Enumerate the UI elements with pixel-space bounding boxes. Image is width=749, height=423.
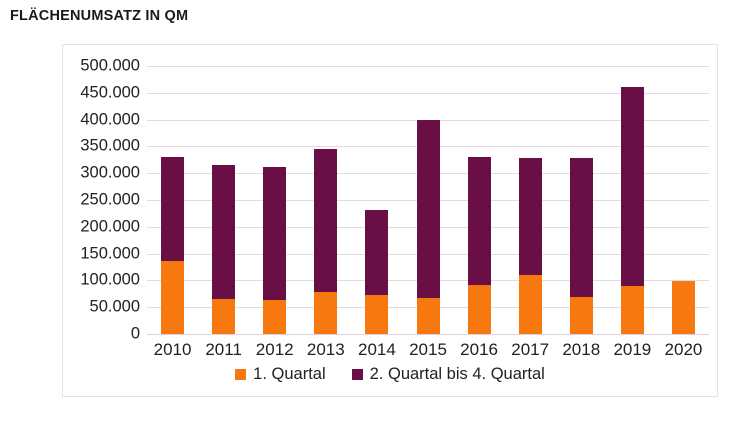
y-axis-tick-label: 500.000	[63, 57, 147, 76]
y-axis-tick-label: 250.000	[63, 191, 147, 210]
bar-segment[interactable]	[468, 285, 491, 334]
y-axis-tick-label: 100.000	[63, 271, 147, 290]
y-axis-tick-label: 0	[63, 325, 147, 344]
bar-segment[interactable]	[417, 298, 440, 334]
y-axis-labels: 500.000450.000400.000350.000300.000250.0…	[63, 66, 147, 334]
y-axis-tick-label: 50.000	[63, 298, 147, 317]
gridline	[147, 66, 709, 67]
x-axis-tick-label: 2020	[665, 340, 703, 360]
bar-segment[interactable]	[365, 210, 388, 295]
bar-segment[interactable]	[212, 165, 235, 300]
x-axis-tick-label: 2017	[511, 340, 549, 360]
bar-segment[interactable]	[417, 120, 440, 298]
x-axis-tick-label: 2011	[205, 340, 242, 360]
y-axis-tick-label: 300.000	[63, 164, 147, 183]
x-axis-tick-label: 2016	[460, 340, 498, 360]
bar-segment[interactable]	[365, 295, 388, 334]
page-title: FLÄCHENUMSATZ IN QM	[10, 8, 188, 24]
x-axis-tick-label: 2012	[256, 340, 294, 360]
chart-frame: 500.000450.000400.000350.000300.000250.0…	[62, 44, 718, 397]
bar-segment[interactable]	[314, 292, 337, 334]
x-axis-tick-label: 2018	[562, 340, 600, 360]
bar-segment[interactable]	[672, 281, 695, 334]
x-axis-tick-label: 2014	[358, 340, 396, 360]
bar-segment[interactable]	[621, 87, 644, 286]
legend-swatch-icon	[235, 369, 246, 380]
bar-segment[interactable]	[161, 261, 184, 334]
chart-legend: 1. Quartal2. Quartal bis 4. Quartal	[63, 365, 717, 384]
bar-segment[interactable]	[570, 158, 593, 297]
bar-segment[interactable]	[519, 275, 542, 334]
legend-item[interactable]: 1. Quartal	[235, 365, 325, 384]
x-axis-tick-label: 2010	[154, 340, 192, 360]
gridline	[147, 334, 709, 335]
bar-segment[interactable]	[468, 157, 491, 285]
y-axis-tick-label: 200.000	[63, 217, 147, 236]
legend-label: 2. Quartal bis 4. Quartal	[370, 365, 545, 384]
x-axis-tick-label: 2015	[409, 340, 447, 360]
bar-segment[interactable]	[570, 297, 593, 334]
bar-segment[interactable]	[519, 158, 542, 275]
y-axis-tick-label: 450.000	[63, 83, 147, 102]
y-axis-tick-label: 350.000	[63, 137, 147, 156]
legend-item[interactable]: 2. Quartal bis 4. Quartal	[352, 365, 545, 384]
x-axis-tick-label: 2019	[613, 340, 651, 360]
bar-segment[interactable]	[161, 157, 184, 260]
y-axis-tick-label: 150.000	[63, 244, 147, 263]
bar-segment[interactable]	[212, 299, 235, 334]
bar-segment[interactable]	[621, 286, 644, 334]
x-axis-tick-label: 2013	[307, 340, 345, 360]
legend-label: 1. Quartal	[253, 365, 325, 384]
bar-segment[interactable]	[314, 149, 337, 293]
legend-swatch-icon	[352, 369, 363, 380]
bar-segment[interactable]	[263, 167, 286, 300]
bar-segment[interactable]	[263, 300, 286, 334]
plot-area: 500.000450.000400.000350.000300.000250.0…	[147, 66, 709, 334]
y-axis-tick-label: 400.000	[63, 110, 147, 129]
